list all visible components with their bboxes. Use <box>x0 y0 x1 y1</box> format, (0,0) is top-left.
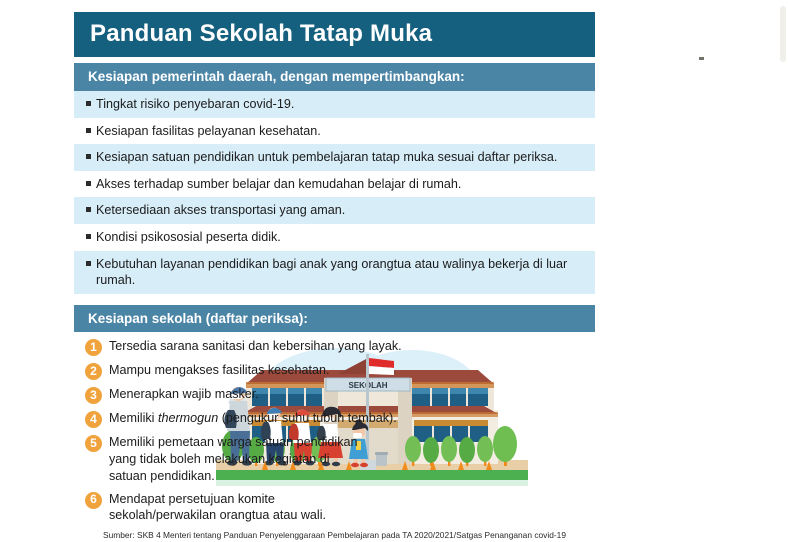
infographic-panel: Panduan Sekolah Tatap Muka Kesiapan peme… <box>74 12 595 542</box>
square-bullet-icon <box>86 261 91 266</box>
square-bullet-icon <box>86 207 91 212</box>
list-item: 6 Mendapat persetujuan komite sekolah/pe… <box>74 488 595 527</box>
number-badge: 1 <box>85 339 102 356</box>
list-item-label: Tingkat risiko penyebaran covid-19. <box>96 96 581 113</box>
number-badge: 3 <box>85 387 102 404</box>
square-bullet-icon <box>86 101 91 106</box>
list-item-label: Mendapat persetujuan komite sekolah/perw… <box>109 491 359 524</box>
list-item: 5 Memiliki pemetaan warga satuan pendidi… <box>74 431 595 487</box>
list-item-label: Kebutuhan layanan pendidikan bagi anak y… <box>96 256 581 289</box>
list-item-text-before: Memiliki <box>109 411 158 425</box>
school-readiness-list: 1 Tersedia sarana sanitasi dan kebersiha… <box>74 332 595 527</box>
list-item: Tingkat risiko penyebaran covid-19. <box>74 91 595 118</box>
list-item-label: Kondisi psikososial peserta didik. <box>96 229 581 246</box>
source-note: Sumber: SKB 4 Menteri tentang Panduan Pe… <box>74 530 595 542</box>
list-item: Kesiapan fasilitas pelayanan kesehatan. <box>74 118 595 145</box>
square-bullet-icon <box>86 181 91 186</box>
square-bullet-icon <box>86 128 91 133</box>
list-item-text-italic: thermogun <box>158 411 218 425</box>
list-item-label: Mampu mengakses fasilitas kesehatan. <box>109 362 330 379</box>
page-artifact <box>699 57 704 60</box>
page-title: Panduan Sekolah Tatap Muka <box>74 12 595 57</box>
list-item-label: Memiliki thermogun (pengukur suhu tubuh … <box>109 410 397 427</box>
list-item-label: Kesiapan satuan pendidikan untuk pembela… <box>96 149 581 166</box>
list-item: Ketersediaan akses transportasi yang ama… <box>74 197 595 224</box>
list-item: Akses terhadap sumber belajar dan kemuda… <box>74 171 595 198</box>
list-item-label: Kesiapan fasilitas pelayanan kesehatan. <box>96 123 581 140</box>
list-item: 2 Mampu mengakses fasilitas kesehatan. <box>74 359 595 383</box>
number-badge: 5 <box>85 435 102 452</box>
list-item: 4 Memiliki thermogun (pengukur suhu tubu… <box>74 407 595 431</box>
scrollbar[interactable] <box>780 6 786 62</box>
list-item-text-after: (pengukur suhu tubuh tembak). <box>218 411 397 425</box>
list-item-label: Tersedia sarana sanitasi dan kebersihan … <box>109 338 402 355</box>
number-badge: 2 <box>85 363 102 380</box>
list-item-label: Ketersediaan akses transportasi yang ama… <box>96 202 581 219</box>
section-heading-government-readiness: Kesiapan pemerintah daerah, dengan mempe… <box>74 63 595 91</box>
list-item: Kebutuhan layanan pendidikan bagi anak y… <box>74 251 595 294</box>
square-bullet-icon <box>86 154 91 159</box>
number-badge: 6 <box>85 492 102 509</box>
list-item: Kesiapan satuan pendidikan untuk pembela… <box>74 144 595 171</box>
section-heading-school-readiness: Kesiapan sekolah (daftar periksa): <box>74 305 595 333</box>
number-badge: 4 <box>85 411 102 428</box>
list-item-label: Akses terhadap sumber belajar dan kemuda… <box>96 176 581 193</box>
government-readiness-list: Tingkat risiko penyebaran covid-19. Kesi… <box>74 91 595 294</box>
list-item: 3 Menerapkan wajib masker. <box>74 383 595 407</box>
list-item-label: Menerapkan wajib masker. <box>109 386 259 403</box>
list-item: Kondisi psikososial peserta didik. <box>74 224 595 251</box>
list-item: 1 Tersedia sarana sanitasi dan kebersiha… <box>74 335 595 359</box>
square-bullet-icon <box>86 234 91 239</box>
list-item-label: Memiliki pemetaan warga satuan pendidika… <box>109 434 359 484</box>
